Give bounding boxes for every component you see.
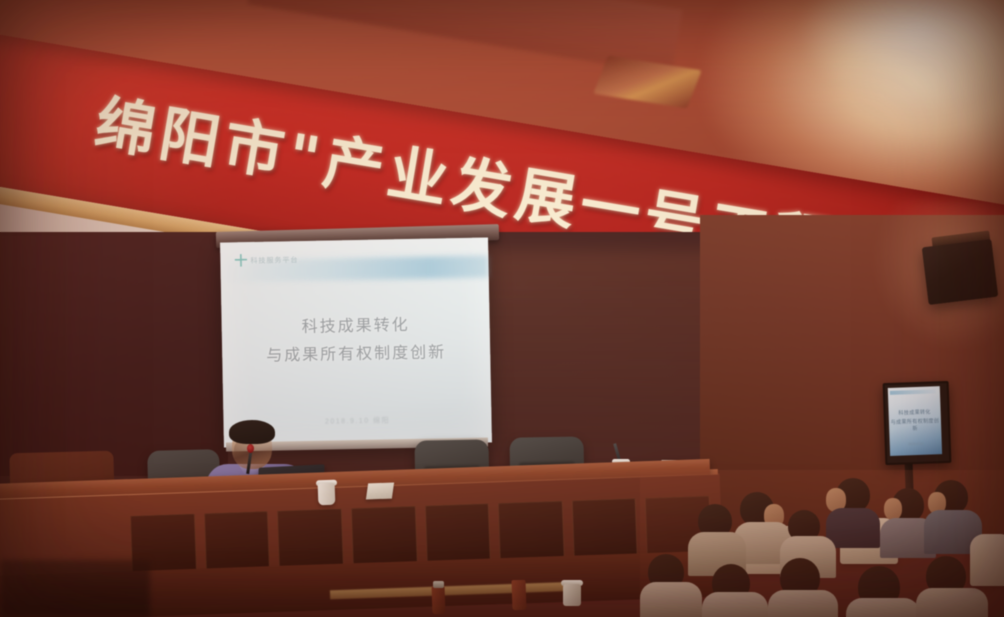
name-plate-card	[366, 483, 394, 500]
audience-group	[640, 470, 1004, 617]
teacup	[563, 584, 581, 606]
audience-torso	[768, 590, 838, 617]
audience-torso	[916, 588, 988, 617]
audience-torso	[640, 582, 702, 617]
wall-speaker-icon	[922, 239, 999, 305]
slide-title-line-2: 与成果所有权制度创新	[222, 337, 490, 366]
wall-monitor: 科技成果转化 与成果所有权制度创新 2018.9.10	[883, 381, 952, 465]
monitor-slide-line-2: 与成果所有权制度创新	[889, 417, 941, 433]
slide-logo-text: 科技服务平台	[250, 255, 298, 266]
microphone-icon	[247, 444, 254, 453]
monitor-screen: 科技成果转化 与成果所有权制度创新 2018.9.10	[888, 386, 942, 456]
audience-face	[884, 498, 902, 520]
left-acoustic-panel	[0, 236, 228, 476]
monitor-slide-header	[890, 389, 936, 395]
audience-torso	[826, 508, 880, 548]
water-bottle	[432, 586, 446, 614]
foreground-shadow	[0, 560, 150, 617]
presenter-hair	[229, 420, 275, 444]
monitor-slide-footer: 2018.9.10	[890, 441, 942, 447]
monitor-slide-line-1: 科技成果转化	[889, 408, 941, 417]
slide-logo: 十 科技服务平台	[234, 253, 314, 269]
audience-torso	[702, 592, 768, 617]
audience-seat	[970, 534, 1004, 586]
ceiling-light-glare-core	[780, 0, 1004, 120]
projection-screen: 十 科技服务平台 科技成果转化 与成果所有权制度创新 2018.9.10 绵阳	[220, 237, 492, 447]
audience-torso	[846, 598, 920, 617]
water-bottle	[511, 580, 526, 610]
slide-logo-icon: 十	[234, 254, 246, 267]
teacup	[318, 483, 336, 506]
conference-hall-photo: 绵阳市"产业发展一号工程"专题培训班 十 科技服务平台 科技成果转化 与成果所有…	[0, 0, 1004, 617]
water-bottle-cap	[433, 581, 444, 588]
slide-title-line-1: 科技成果转化	[221, 309, 489, 338]
